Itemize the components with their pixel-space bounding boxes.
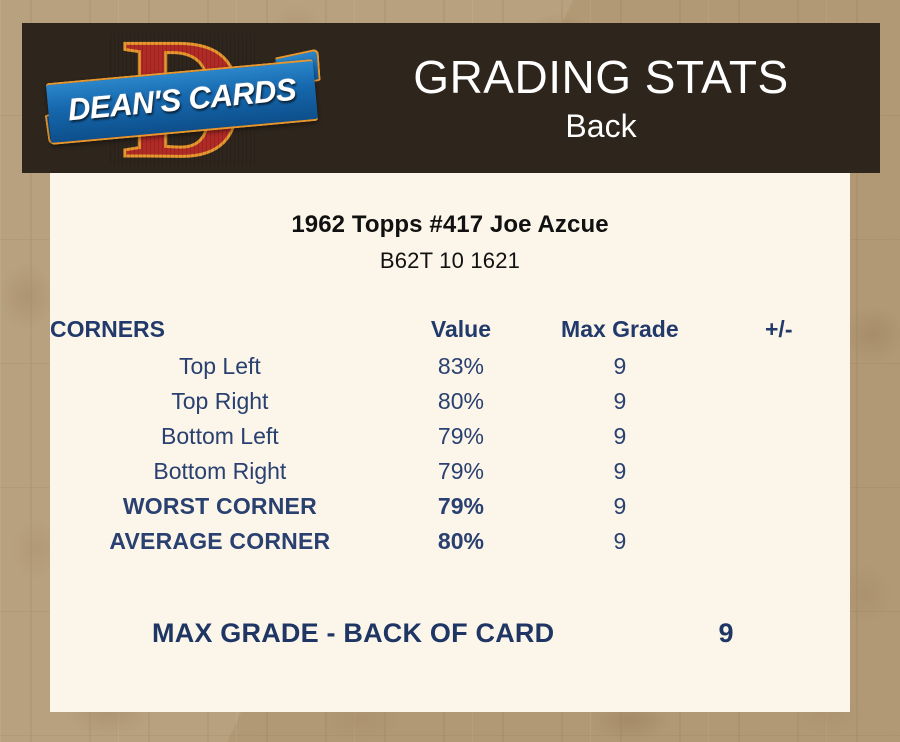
cell-delta <box>708 489 851 524</box>
cell-delta <box>708 349 851 384</box>
cell-label: AVERAGE CORNER <box>50 524 390 559</box>
table-row: Bottom Left79%9 <box>50 419 850 454</box>
header-bar: D DEAN'S CARDS GRADING STATS Back <box>22 23 880 173</box>
card-title: 1962 Topps #417 Joe Azcue <box>50 211 850 239</box>
max-grade-value: 9 <box>650 617 850 650</box>
content-panel: 1962 Topps #417 Joe Azcue B62T 10 1621 C… <box>50 173 850 712</box>
grading-stats-page: D DEAN'S CARDS GRADING STATS Back 1962 T… <box>0 0 900 742</box>
cell-label: WORST CORNER <box>50 489 390 524</box>
corner-stats-table: CORNERS Value Max Grade +/- Top Left83%9… <box>50 316 850 559</box>
table-header: CORNERS Value Max Grade +/- <box>50 316 850 349</box>
table-header-row: CORNERS Value Max Grade +/- <box>50 316 850 349</box>
table-row: Top Right80%9 <box>50 384 850 419</box>
cell-max-grade: 9 <box>532 419 707 454</box>
page-subtitle: Back <box>565 106 636 146</box>
cell-max-grade: 9 <box>532 454 707 489</box>
card-code: B62T 10 1621 <box>50 248 850 274</box>
page-title: GRADING STATS <box>413 50 788 104</box>
table-body: Top Left83%9Top Right80%9Bottom Left79%9… <box>50 349 850 559</box>
table-row: Top Left83%9 <box>50 349 850 384</box>
max-grade-label: MAX GRADE - BACK OF CARD <box>50 617 650 650</box>
cell-label: Top Right <box>50 384 390 419</box>
cell-value: 79% <box>390 454 532 489</box>
cell-max-grade: 9 <box>532 489 707 524</box>
column-header-max-grade: Max Grade <box>532 316 707 349</box>
cell-value: 80% <box>390 524 532 559</box>
table-row: Bottom Right79%9 <box>50 454 850 489</box>
cell-delta <box>708 524 851 559</box>
logo-banner-text: DEAN'S CARDS <box>46 59 318 141</box>
max-grade-summary: MAX GRADE - BACK OF CARD 9 <box>50 617 850 650</box>
cell-max-grade: 9 <box>532 384 707 419</box>
cell-label: Bottom Left <box>50 419 390 454</box>
cell-max-grade: 9 <box>532 349 707 384</box>
cell-label: Top Left <box>50 349 390 384</box>
cell-value: 83% <box>390 349 532 384</box>
max-grade-row: MAX GRADE - BACK OF CARD 9 <box>50 617 850 650</box>
deans-cards-logo[interactable]: D DEAN'S CARDS <box>48 31 316 167</box>
header-title-group: GRADING STATS Back <box>322 23 880 173</box>
cell-delta <box>708 384 851 419</box>
cell-max-grade: 9 <box>532 524 707 559</box>
column-header-delta: +/- <box>708 316 851 349</box>
cell-value: 80% <box>390 384 532 419</box>
column-header-corners: CORNERS <box>50 316 390 349</box>
cell-delta <box>708 419 851 454</box>
cell-delta <box>708 454 851 489</box>
table-row: AVERAGE CORNER80%9 <box>50 524 850 559</box>
cell-value: 79% <box>390 489 532 524</box>
cell-value: 79% <box>390 419 532 454</box>
cell-label: Bottom Right <box>50 454 390 489</box>
table-row: WORST CORNER79%9 <box>50 489 850 524</box>
column-header-value: Value <box>390 316 532 349</box>
